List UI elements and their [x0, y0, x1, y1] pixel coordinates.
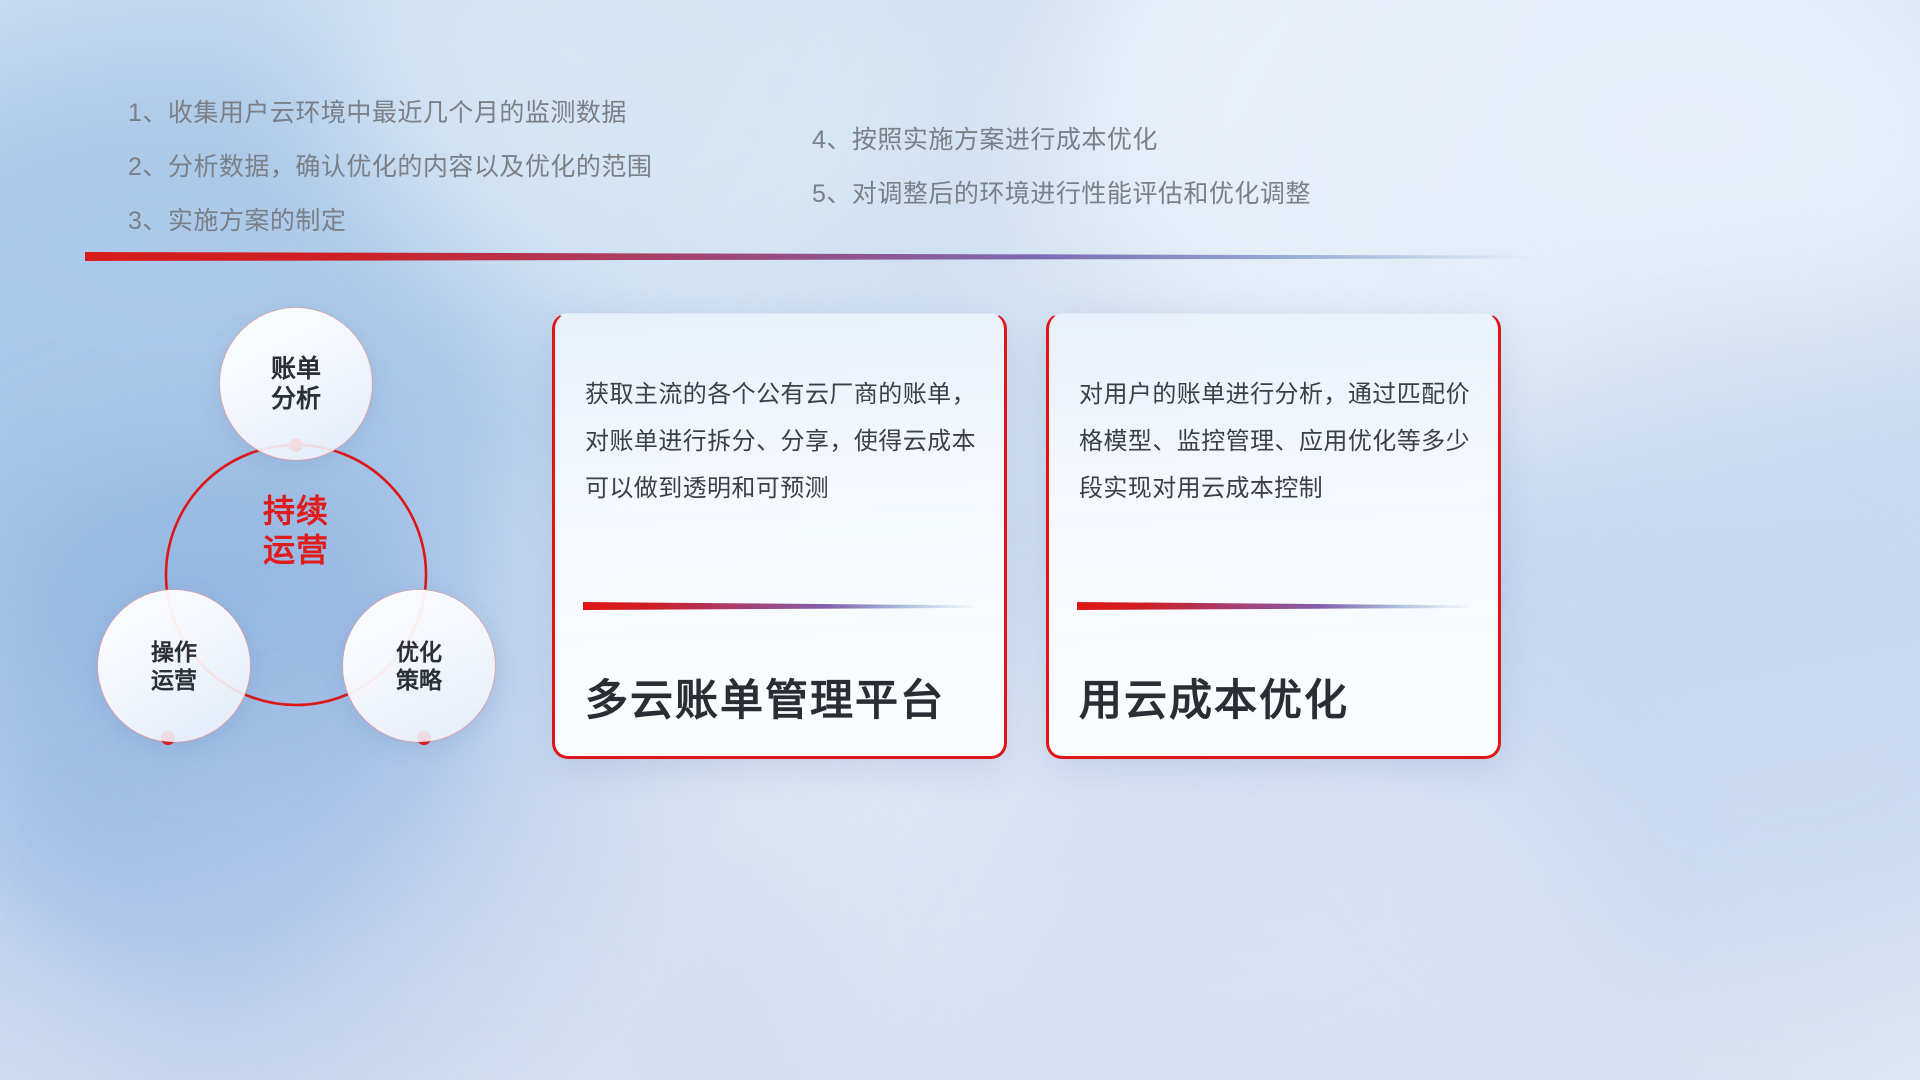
feature-card-multicloud-billing[interactable]: 获取主流的各个公有云厂商的账单，对账单进行拆分、分享，使得云成本可以做到透明和可… [552, 313, 1007, 759]
step-item: 3、实施方案的制定 [128, 209, 652, 234]
venn-diagram: 账单 分析 操作 运营 优化 策略 持续 运营 [78, 290, 548, 760]
steps-left-column: 1、收集用户云环境中最近几个月的监测数据 2、分析数据，确认优化的内容以及优化的… [128, 101, 652, 263]
card-title: 用云成本优化 [1079, 666, 1478, 728]
venn-bubble-billing-analysis[interactable]: 账单 分析 [220, 308, 372, 460]
venn-bubble-operations[interactable]: 操作 运营 [98, 590, 250, 742]
venn-bubble-optimization-strategy[interactable]: 优化 策略 [343, 590, 495, 742]
slide-stage: 1、收集用户云环境中最近几个月的监测数据 2、分析数据，确认优化的内容以及优化的… [0, 0, 1920, 1080]
card-description: 获取主流的各个公有云厂商的账单，对账单进行拆分、分享，使得云成本可以做到透明和可… [585, 372, 976, 512]
feature-card-cost-optimization[interactable]: 对用户的账单进行分析，通过匹配价格模型、监控管理、应用优化等多少段实现对用云成本… [1046, 313, 1501, 759]
step-item: 2、分析数据，确认优化的内容以及优化的范围 [128, 155, 652, 180]
card-divider [1077, 602, 1472, 610]
venn-bubble-label: 操作 运营 [151, 638, 197, 694]
step-item: 4、按照实施方案进行成本优化 [812, 128, 1311, 153]
step-item: 1、收集用户云环境中最近几个月的监测数据 [128, 101, 652, 126]
card-title: 多云账单管理平台 [585, 666, 984, 728]
steps-right-column: 4、按照实施方案进行成本优化 5、对调整后的环境进行性能评估和优化调整 [812, 128, 1311, 236]
section-divider [85, 252, 1535, 261]
card-description: 对用户的账单进行分析，通过匹配价格模型、监控管理、应用优化等多少段实现对用云成本… [1079, 372, 1470, 512]
venn-center-label: 持续 运营 [215, 476, 377, 586]
venn-center-text: 持续 运营 [263, 492, 329, 570]
card-divider [583, 602, 978, 610]
section-divider-wedge [85, 252, 1535, 261]
venn-bubble-label: 账单 分析 [271, 354, 321, 415]
step-item: 5、对调整后的环境进行性能评估和优化调整 [812, 182, 1311, 207]
venn-bubble-label: 优化 策略 [396, 638, 442, 694]
